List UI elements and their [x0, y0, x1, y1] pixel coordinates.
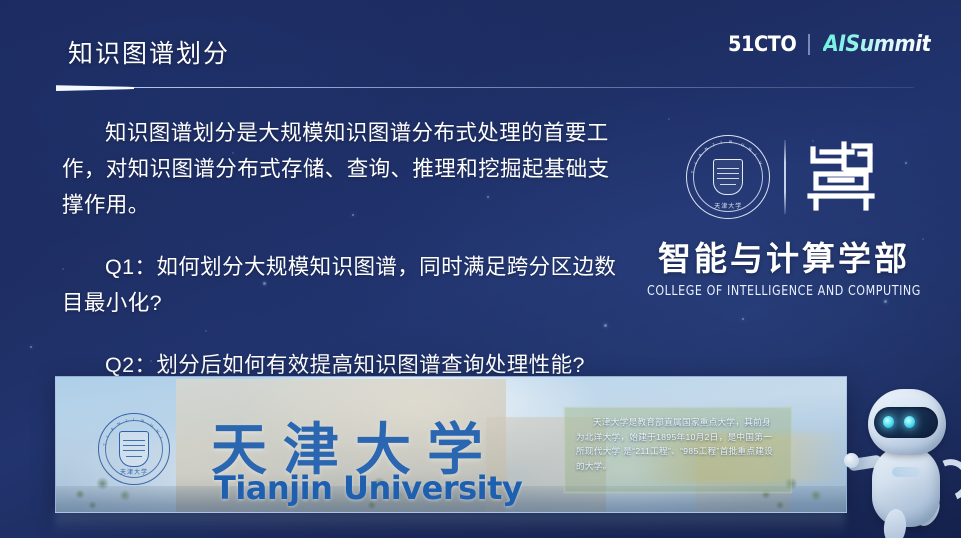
logo-vertical-divider [784, 140, 786, 214]
seal-shield [713, 159, 743, 195]
robot-eye-right [904, 416, 915, 428]
campus-photo-banner: T I A N J I N U N I 天津大学 天津大学 Tianjin Un… [55, 376, 847, 513]
robot-chest-detail [892, 467, 920, 477]
banner-description-text: 天津大学是教育部直属国家重点大学，其前身为北洋大学，始建于1895年10月2日，… [576, 415, 776, 473]
ai-robot-mascot-icon [846, 383, 961, 538]
page-title: 知识图谱划分 [68, 34, 230, 70]
seal-bottom-label: 天津大学 [686, 201, 770, 210]
college-name-cn: 智能与计算学部 [634, 232, 934, 280]
robot-left-hand [844, 453, 859, 468]
banner-tju-seal-icon: T I A N J I N U N I 天津大学 [98, 413, 170, 485]
banner-seal-shield [119, 431, 149, 467]
banner-reflection-glow [55, 511, 845, 533]
college-logo-block: T I A N J I N U N I V 天津大学 [634, 132, 934, 299]
zhi-emblem-icon [800, 136, 882, 218]
presentation-slide: 知识图谱划分 51CTO AISummit 知识图谱划分是大规模知识图谱分布式处… [0, 0, 961, 538]
logo-row: T I A N J I N U N I V 天津大学 [634, 132, 934, 222]
banner-seal-bottom-label: 天津大学 [98, 467, 170, 476]
question-1: Q1：如何划分大规模知识图谱，同时满足跨分区边数目最小化? [62, 249, 622, 321]
banner-title-en: Tianjin University [214, 469, 522, 507]
slide-body-text: 知识图谱划分是大规模知识图谱分布式处理的首要工作，对知识图谱分布式存储、查询、推… [62, 115, 622, 383]
brand-divider [808, 34, 810, 55]
brand-51cto-label: 51CTO [728, 32, 796, 56]
tju-seal-icon: T I A N J I N U N I V 天津大学 [686, 135, 770, 219]
college-name-en: COLLEGE OF INTELLIGENCE AND COMPUTING [642, 284, 927, 299]
brand-aisummit-label: AISummit [823, 32, 931, 57]
brand-logo: 51CTO AISummit [725, 32, 935, 56]
robot-eye-left [883, 416, 894, 428]
title-underline-rule [56, 84, 914, 91]
body-paragraph: 知识图谱划分是大规模知识图谱分布式处理的首要工作，对知识图谱分布式存储、查询、推… [62, 115, 622, 223]
